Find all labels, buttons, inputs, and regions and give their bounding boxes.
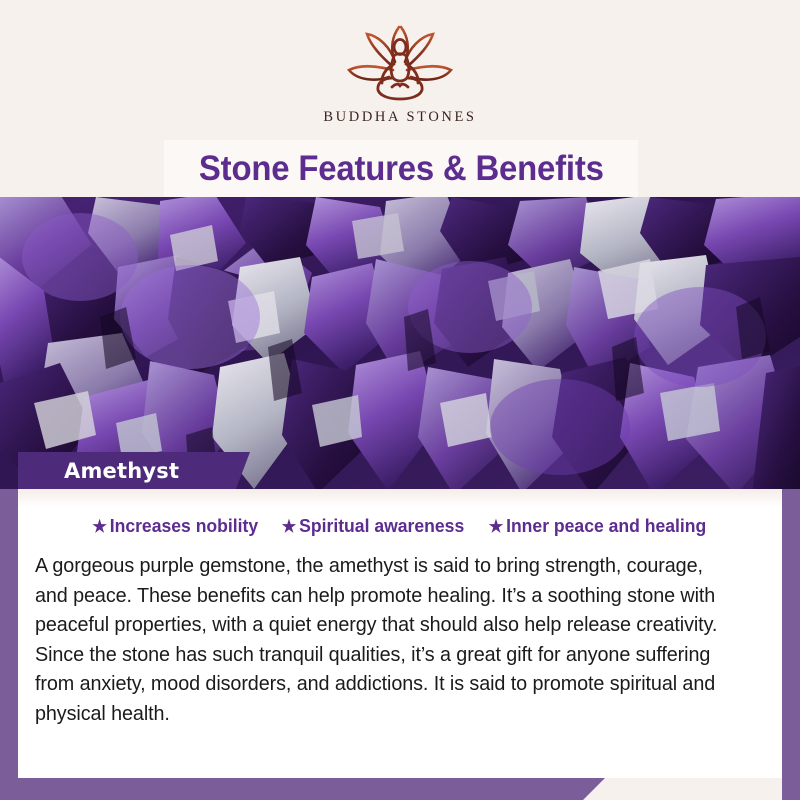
benefits-list: ★ Increases nobility ★ Spiritual awarene… — [18, 515, 782, 537]
brand-name: BUDDHA STONES — [0, 109, 800, 126]
title-banner: Stone Features & Benefits — [164, 140, 638, 197]
star-icon: ★ — [489, 518, 503, 535]
star-icon: ★ — [282, 518, 296, 535]
page-title: Stone Features & Benefits — [199, 149, 604, 189]
header: BUDDHA STONES Stone Features & Benefits — [0, 0, 800, 197]
benefit-item-1: ★ Spiritual awareness — [282, 515, 464, 537]
brand-logo: BUDDHA STONES — [0, 20, 800, 126]
benefit-label-2: Inner peace and healing — [506, 515, 706, 537]
benefit-item-2: ★ Inner peace and healing — [489, 515, 707, 537]
bottom-purple-band-decoration — [0, 778, 605, 800]
benefit-item-0: ★ Increases nobility — [93, 515, 259, 537]
panel-top-fade — [18, 489, 782, 507]
star-icon: ★ — [93, 518, 107, 535]
benefit-label-0: Increases nobility — [110, 515, 258, 537]
stone-name-label: Amethyst — [18, 459, 179, 483]
stone-name-tag: Amethyst — [18, 452, 250, 489]
infographic-card: BUDDHA STONES Stone Features & Benefits — [0, 0, 800, 800]
amethyst-crystal-cluster-photo — [0, 197, 800, 489]
lotus-meditation-figure-icon — [337, 20, 463, 106]
content-panel: ★ Increases nobility ★ Spiritual awarene… — [18, 489, 782, 778]
benefit-label-1: Spiritual awareness — [299, 515, 464, 537]
stone-description: A gorgeous purple gemstone, the amethyst… — [35, 551, 739, 728]
